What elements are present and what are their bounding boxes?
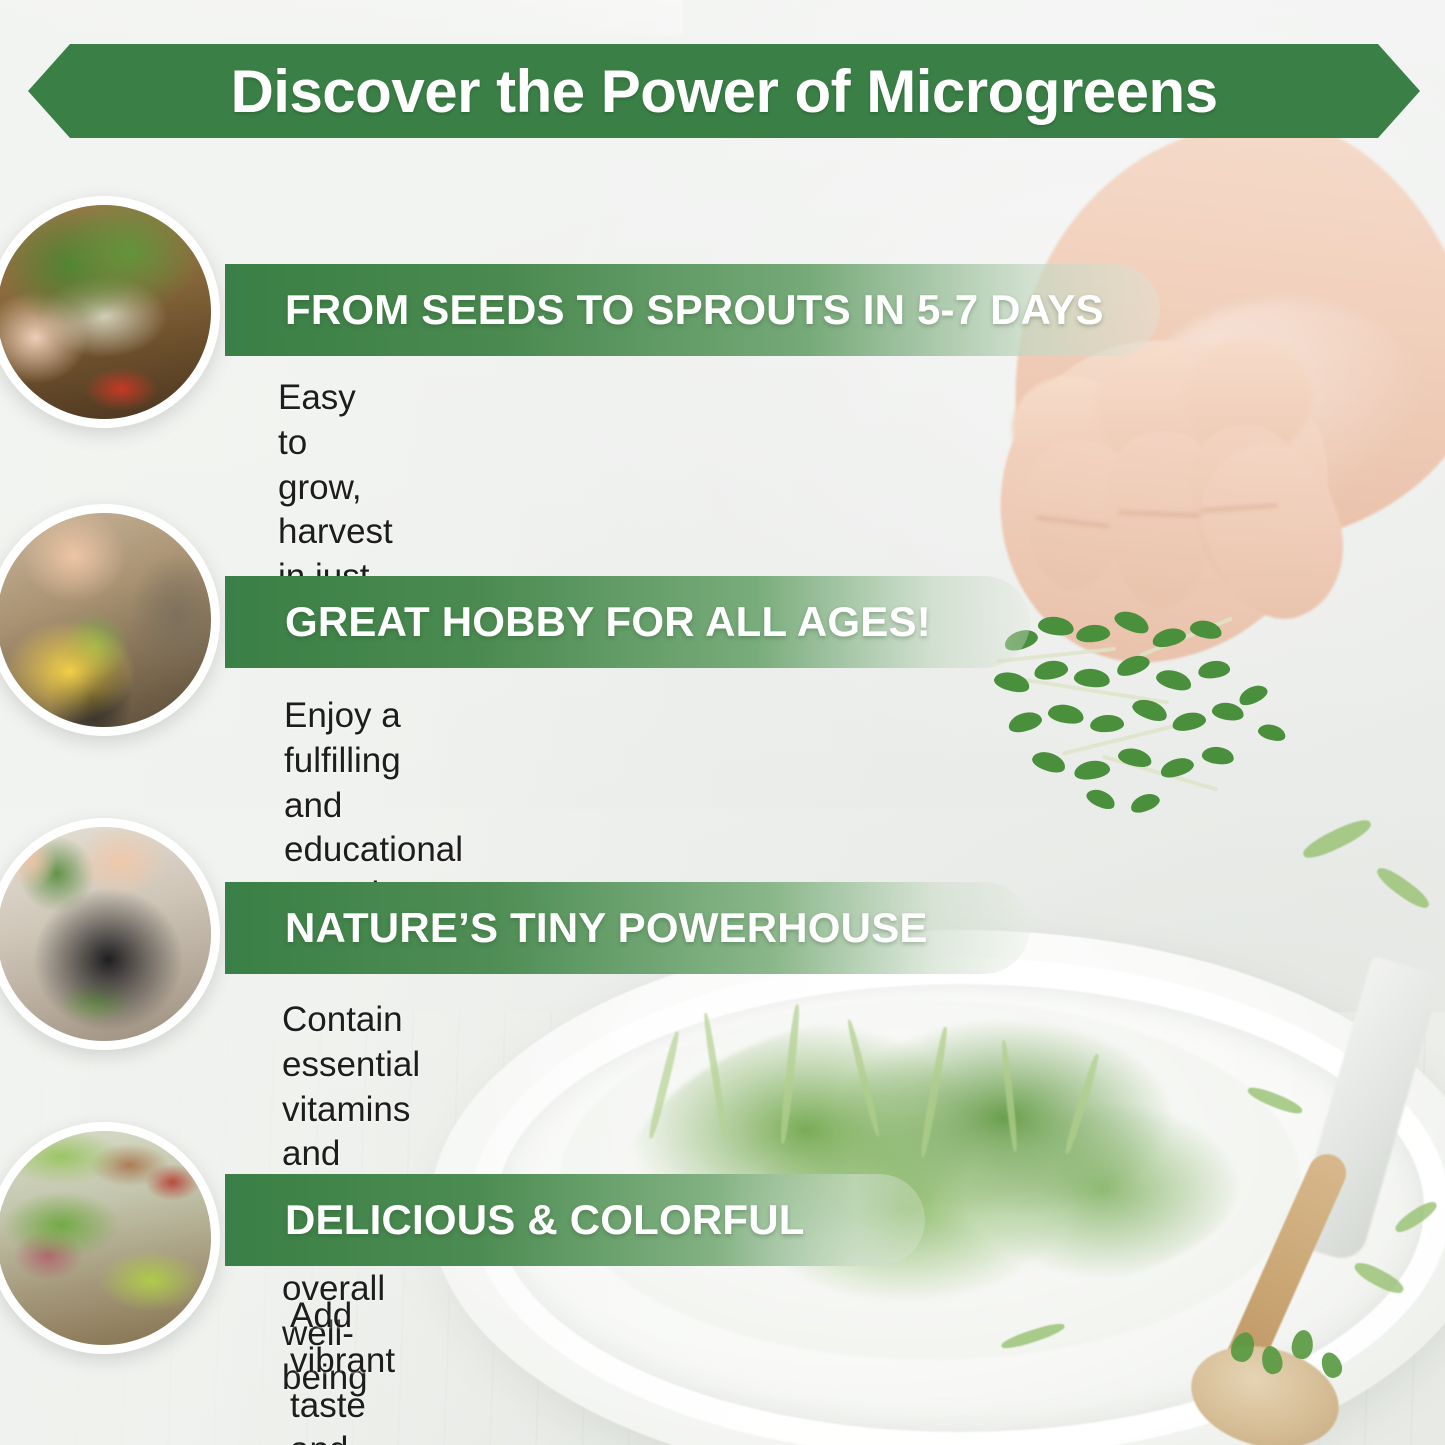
header-banner: Discover the Power of Microgreens (28, 44, 1420, 138)
photo-hand-harvesting-microgreens (0, 205, 211, 419)
feature-title-bar-speed: FROM SEEDS TO SPROUTS IN 5-7 DAYS (225, 264, 1160, 356)
thumbnail-man-flexing-with-microgreens (0, 818, 220, 1050)
feature-title-bar-hobby: GREAT HOBBY FOR ALL AGES! (225, 576, 1030, 668)
thumbnail-microgreens-growing-trays (0, 1122, 220, 1354)
feature-headline: FROM SEEDS TO SPROUTS IN 5-7 DAYS (285, 286, 1104, 334)
pinch-of-microgreens (990, 595, 1330, 825)
thumbnail-hand-harvesting-microgreens (0, 196, 220, 428)
feature-headline: NATURE’S TINY POWERHOUSE (285, 904, 928, 952)
background-top-strip (0, 0, 683, 36)
thumbnail-girl-with-microgreens-tray (0, 504, 220, 736)
feature-headline: GREAT HOBBY FOR ALL AGES! (285, 598, 931, 646)
microgreens-infographic-poster: Discover the Power of Microgreens FROM S… (0, 0, 1445, 1445)
photo-man-flexing-with-microgreens (0, 827, 211, 1041)
feature-title-bar-flavor: DELICIOUS & COLORFUL (225, 1174, 925, 1266)
photo-microgreens-growing-trays (0, 1131, 211, 1345)
page-title: Discover the Power of Microgreens (230, 57, 1217, 126)
photo-girl-with-microgreens-tray (0, 513, 211, 727)
feature-headline: DELICIOUS & COLORFUL (285, 1196, 805, 1244)
feature-title-bar-nutrition: NATURE’S TINY POWERHOUSE (225, 882, 1030, 974)
feature-subtext: Add vibrant taste and color to your meal… (290, 1294, 395, 1445)
